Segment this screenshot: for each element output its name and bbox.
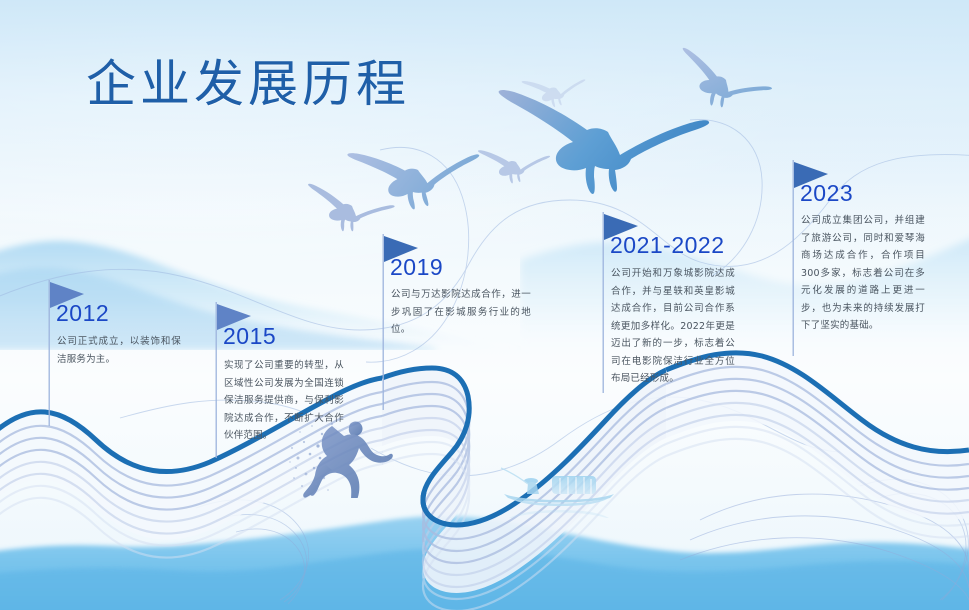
- milestone-year: 2023: [800, 180, 853, 207]
- milestone-year: 2015: [223, 323, 276, 350]
- milestone-description: 公司与万达影院达成合作，进一步巩固了在影城服务行业的地位。: [391, 286, 531, 339]
- milestone-year: 2012: [56, 300, 109, 327]
- infographic-canvas: 企业发展历程 2012 公司正式成立，以装饰和保洁服务为主。 2015 实现了公…: [0, 0, 969, 610]
- milestone-description: 公司正式成立，以装饰和保洁服务为主。: [57, 333, 181, 368]
- milestone-description: 公司成立集团公司，并组建了旅游公司，同时和爱琴海商场达成合作，合作项目300多家…: [801, 212, 925, 335]
- flag-marker-icon: [784, 158, 844, 159]
- milestone-year: 2019: [390, 254, 443, 281]
- flag-marker-icon: [207, 300, 267, 301]
- flag-marker-icon: [40, 278, 100, 279]
- page-title: 企业发展历程: [86, 58, 410, 111]
- milestone-description: 公司开始和万象城影院达成合作，并与星轶和英皇影城达成合作，目前公司合作系统更加多…: [611, 265, 735, 388]
- flag-marker-icon: [374, 232, 434, 233]
- milestone-year: 2021-2022: [610, 232, 725, 259]
- flag-marker-icon: [594, 210, 654, 211]
- milestone-description: 实现了公司重要的转型，从区域性公司发展为全国连锁保洁服务提供商，与保利影院达成合…: [224, 357, 344, 445]
